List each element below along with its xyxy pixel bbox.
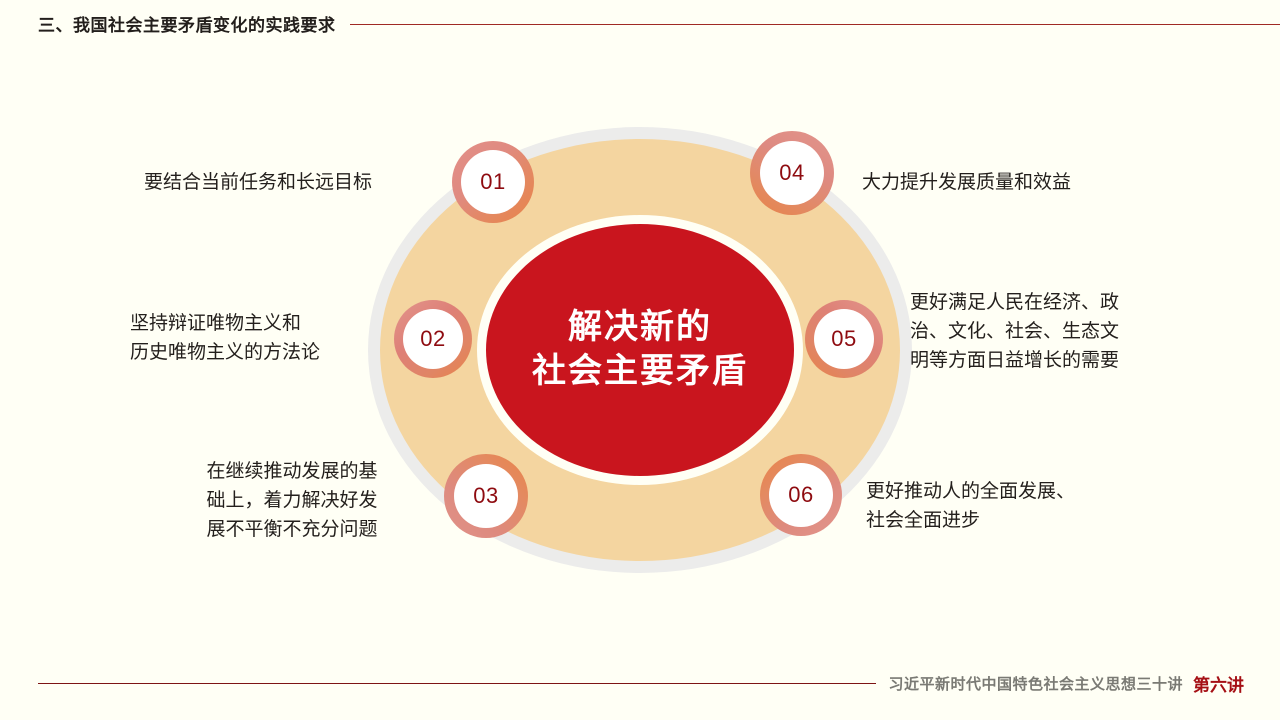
badge-02[interactable]: 02 [394,300,472,378]
label-04: 大力提升发展质量和效益 [862,169,1192,198]
badge-02-number: 02 [420,328,445,350]
badge-02-inner: 02 [403,309,463,369]
badge-04[interactable]: 04 [750,131,834,215]
center-title-line-1: 解决新的 [568,306,712,350]
footer-divider-rule [38,683,876,684]
badge-06[interactable]: 06 [760,454,842,536]
center-title-line-2: 社会主要矛盾 [532,350,748,394]
badge-01-inner: 01 [461,150,525,214]
badge-01[interactable]: 01 [452,141,534,223]
badge-06-number: 06 [788,484,813,506]
hub-and-spoke-diagram: 解决新的 社会主要矛盾 01 要结合当前任务和长远目标 02 坚持辩证唯物主义和… [0,0,1280,720]
badge-05-number: 05 [831,328,856,350]
label-03: 在继续推动发展的基 础上，着力解决好发 展不平衡不充分问题 [168,458,416,545]
slide-footer: 习近平新时代中国特色社会主义思想三十讲 第六讲 [0,668,1280,698]
badge-03[interactable]: 03 [444,454,528,538]
badge-04-inner: 04 [760,141,824,205]
badge-01-number: 01 [480,171,505,193]
badge-05-inner: 05 [814,309,874,369]
label-02: 坚持辩证唯物主义和 历史唯物主义的方法论 [130,310,386,368]
label-06: 更好推动人的全面发展、 社会全面进步 [866,478,1166,536]
badge-04-number: 04 [779,162,804,184]
label-05: 更好满足人民在经济、政 治、文化、社会、生态文 明等方面日益增长的需要 [910,289,1200,376]
badge-05[interactable]: 05 [805,300,883,378]
footer-lesson-number: 第六讲 [1193,671,1244,696]
badge-03-number: 03 [473,485,498,507]
footer-series-title: 习近平新时代中国特色社会主义思想三十讲 [888,673,1183,694]
badge-03-inner: 03 [454,464,518,528]
badge-06-inner: 06 [769,463,833,527]
label-01: 要结合当前任务和长远目标 [144,169,444,198]
center-core-circle: 解决新的 社会主要矛盾 [486,224,794,476]
